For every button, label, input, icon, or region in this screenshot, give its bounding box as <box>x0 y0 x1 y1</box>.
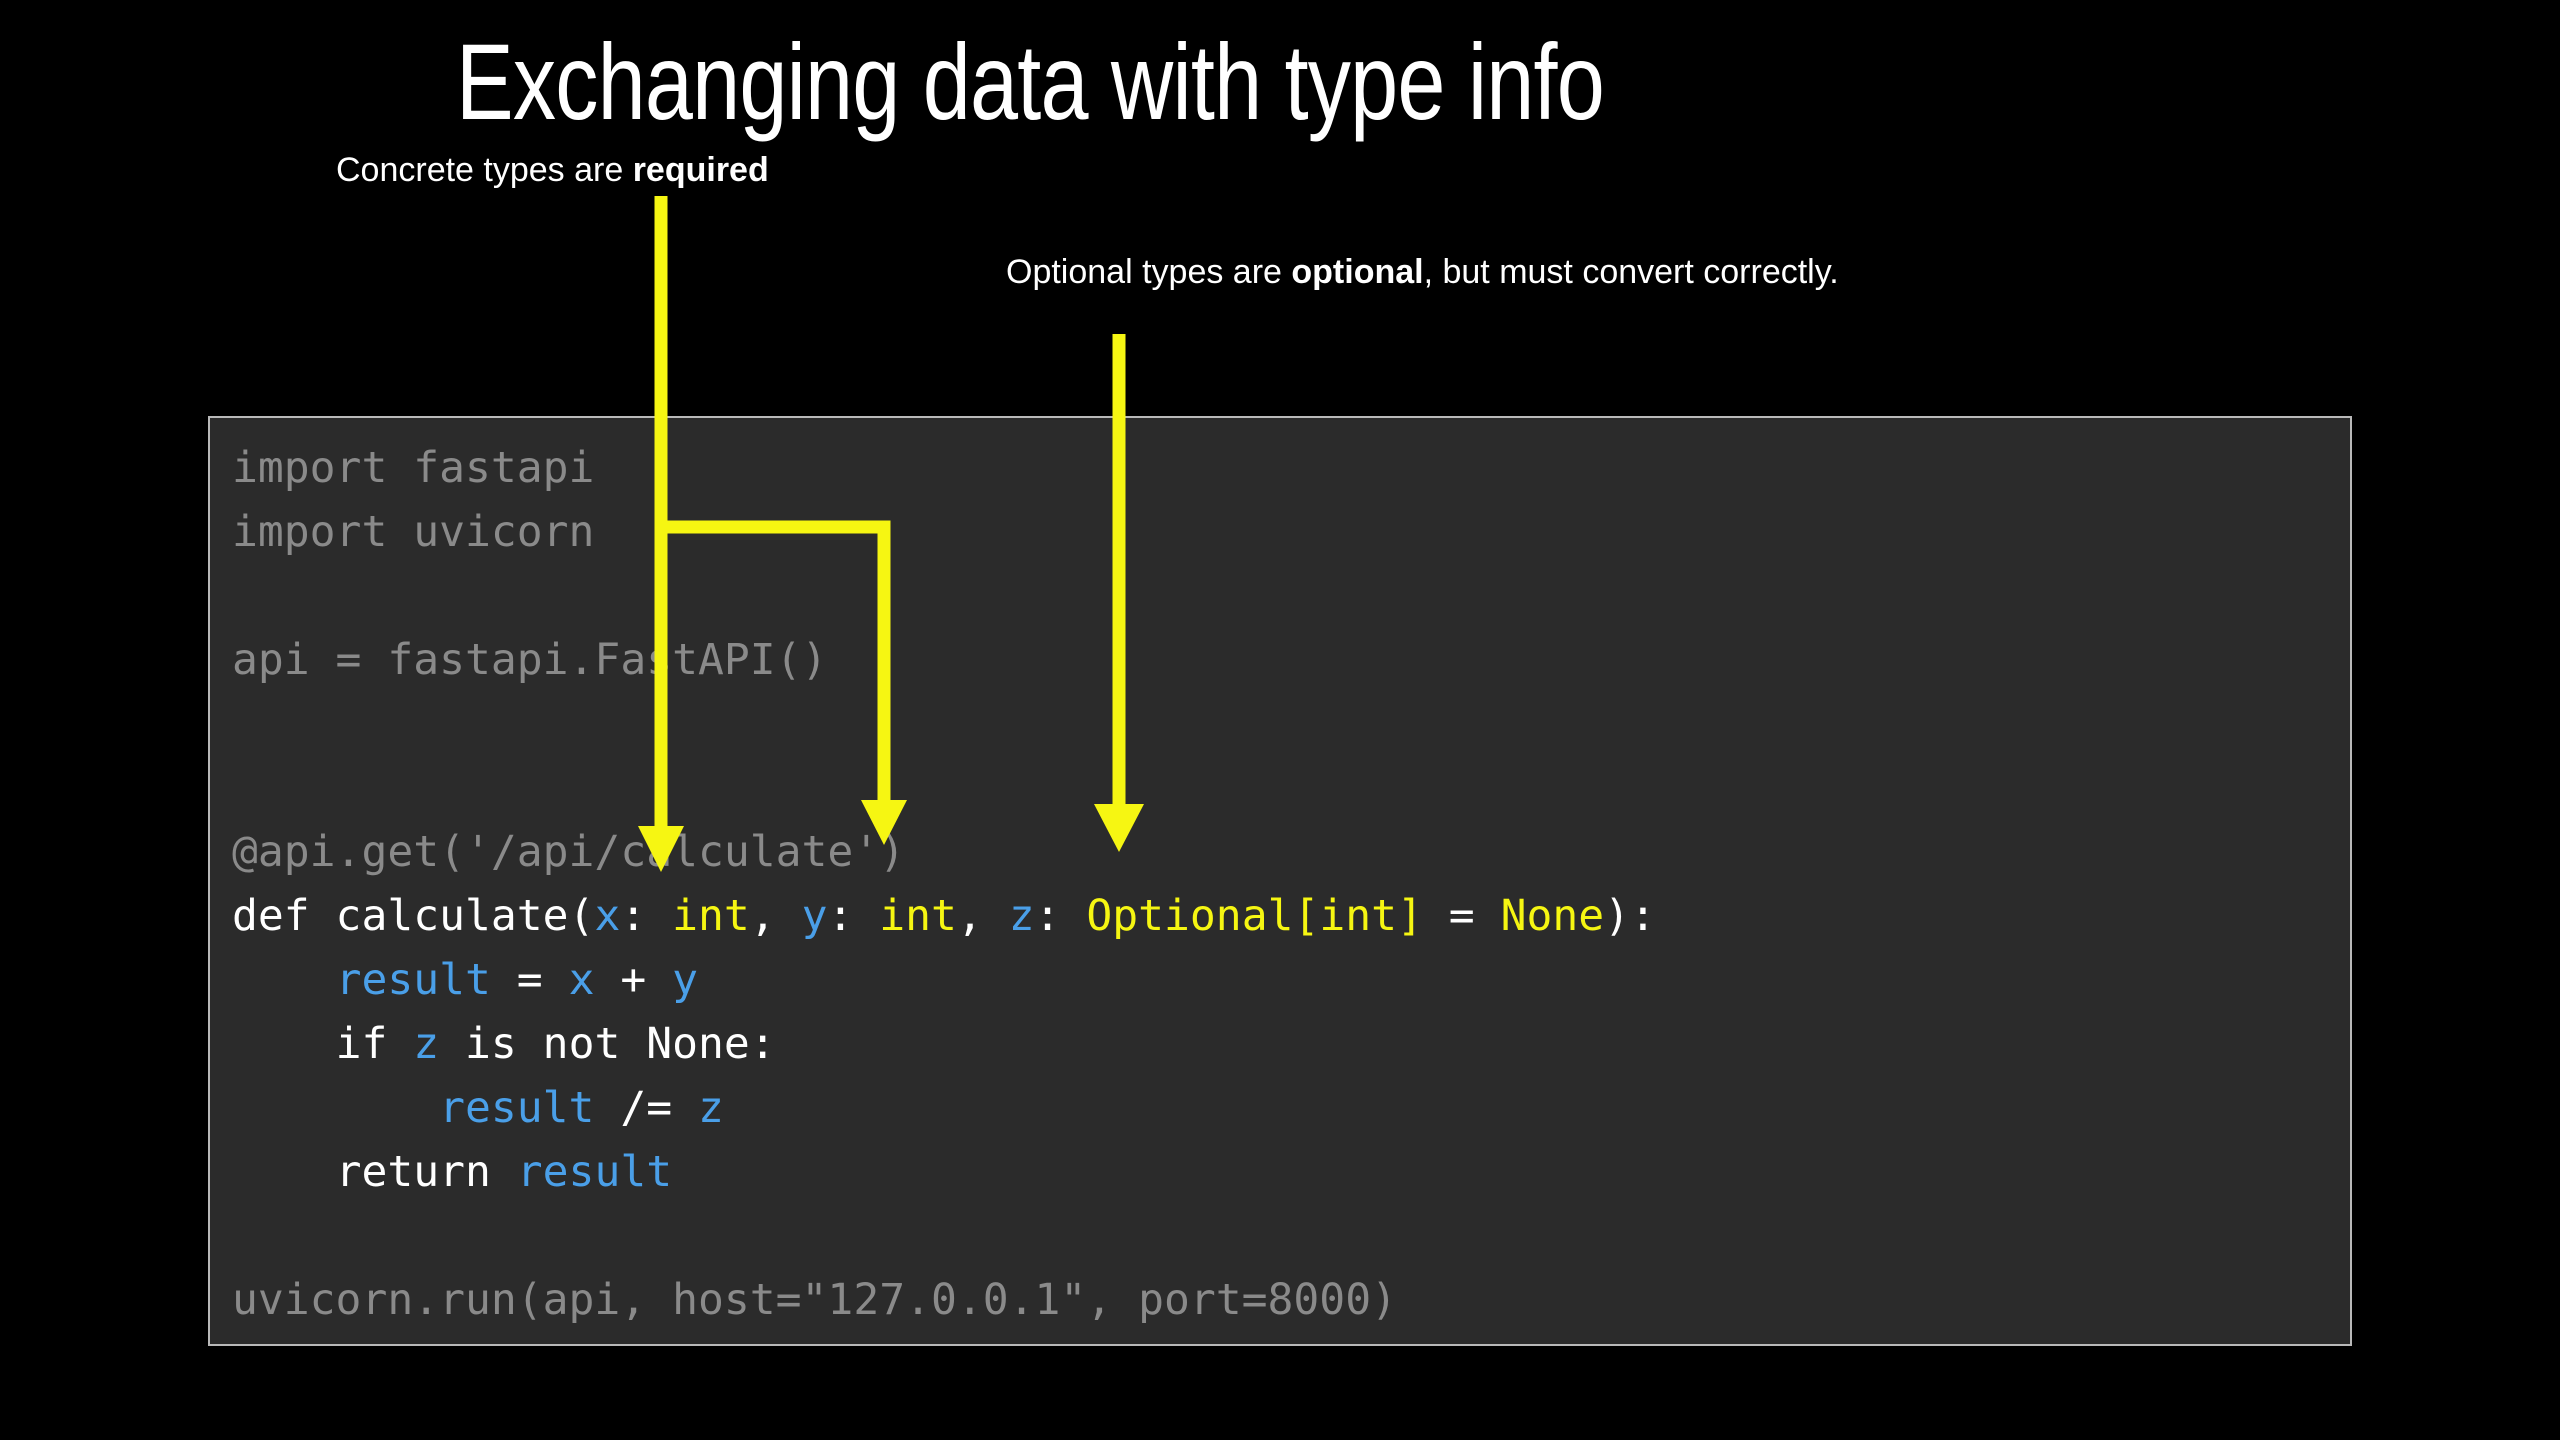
callout-emphasis: optional <box>1291 253 1423 291</box>
code-listing: import fastapiimport uvicorn api = fasta… <box>232 436 1656 1332</box>
code-line-if: if z is not None: <box>232 1012 1656 1076</box>
token-indent <box>232 1083 439 1133</box>
code-line-blank <box>232 692 1656 756</box>
token-colon: : <box>1035 891 1087 941</box>
token-def: def calculate( <box>232 891 594 941</box>
code-line: import uvicorn <box>232 500 1656 564</box>
token-operator: /= <box>594 1083 698 1133</box>
token-indent <box>232 955 336 1005</box>
code-line-return: return result <box>232 1140 1656 1204</box>
token-equals: = <box>1423 891 1501 941</box>
code-line-blank <box>232 756 1656 820</box>
token-return: return <box>336 1147 517 1197</box>
token-comma: , <box>750 891 802 941</box>
token-param-y: y <box>802 891 828 941</box>
code-line-divide: result /= z <box>232 1076 1656 1140</box>
token-type-int: int <box>672 891 750 941</box>
code-line-run: uvicorn.run(api, host="127.0.0.1", port=… <box>232 1268 1656 1332</box>
token-result: result <box>439 1083 594 1133</box>
token-none: None <box>1501 891 1605 941</box>
callout-prefix: Optional types are <box>1006 253 1291 291</box>
callout-optional-types: Optional types are optional, but must co… <box>1006 254 1839 291</box>
callout-emphasis: required <box>633 151 769 189</box>
code-line: api = fastapi.FastAPI() <box>232 628 1656 692</box>
token-z: z <box>413 1019 439 1069</box>
token-if: if <box>336 1019 414 1069</box>
token-indent <box>232 1147 336 1197</box>
code-line: import fastapi <box>232 436 1656 500</box>
token-result: result <box>517 1147 672 1197</box>
code-line-decorator: @api.get('/api/calculate') <box>232 820 1656 884</box>
token-y: y <box>672 955 698 1005</box>
token-type-optional: Optional[int] <box>1086 891 1423 941</box>
token-comma: , <box>957 891 1009 941</box>
code-line-assign: result = x + y <box>232 948 1656 1012</box>
callout-concrete-types: Concrete types are required <box>336 152 769 189</box>
token-colon: : <box>827 891 879 941</box>
token-if-rest: is not None: <box>439 1019 776 1069</box>
token-x: x <box>569 955 595 1005</box>
page-title: Exchanging data with type info <box>206 24 1854 141</box>
code-line-blank <box>232 564 1656 628</box>
token-operator: + <box>594 955 672 1005</box>
token-param-x: x <box>594 891 620 941</box>
token-type-int: int <box>879 891 957 941</box>
code-panel: import fastapiimport uvicorn api = fasta… <box>208 416 2352 1346</box>
code-line-blank <box>232 1204 1656 1268</box>
token-operator: = <box>491 955 569 1005</box>
code-line-def: def calculate(x: int, y: int, z: Optiona… <box>232 884 1656 948</box>
token-colon: : <box>620 891 672 941</box>
token-result: result <box>336 955 491 1005</box>
callout-prefix: Concrete types are <box>336 151 633 189</box>
token-param-z: z <box>1009 891 1035 941</box>
callout-suffix: , but must convert correctly. <box>1424 253 1839 291</box>
token-indent <box>232 1019 336 1069</box>
token-z: z <box>698 1083 724 1133</box>
token-def-tail: ): <box>1604 891 1656 941</box>
slide-canvas: Exchanging data with type info Concrete … <box>0 0 2560 1440</box>
